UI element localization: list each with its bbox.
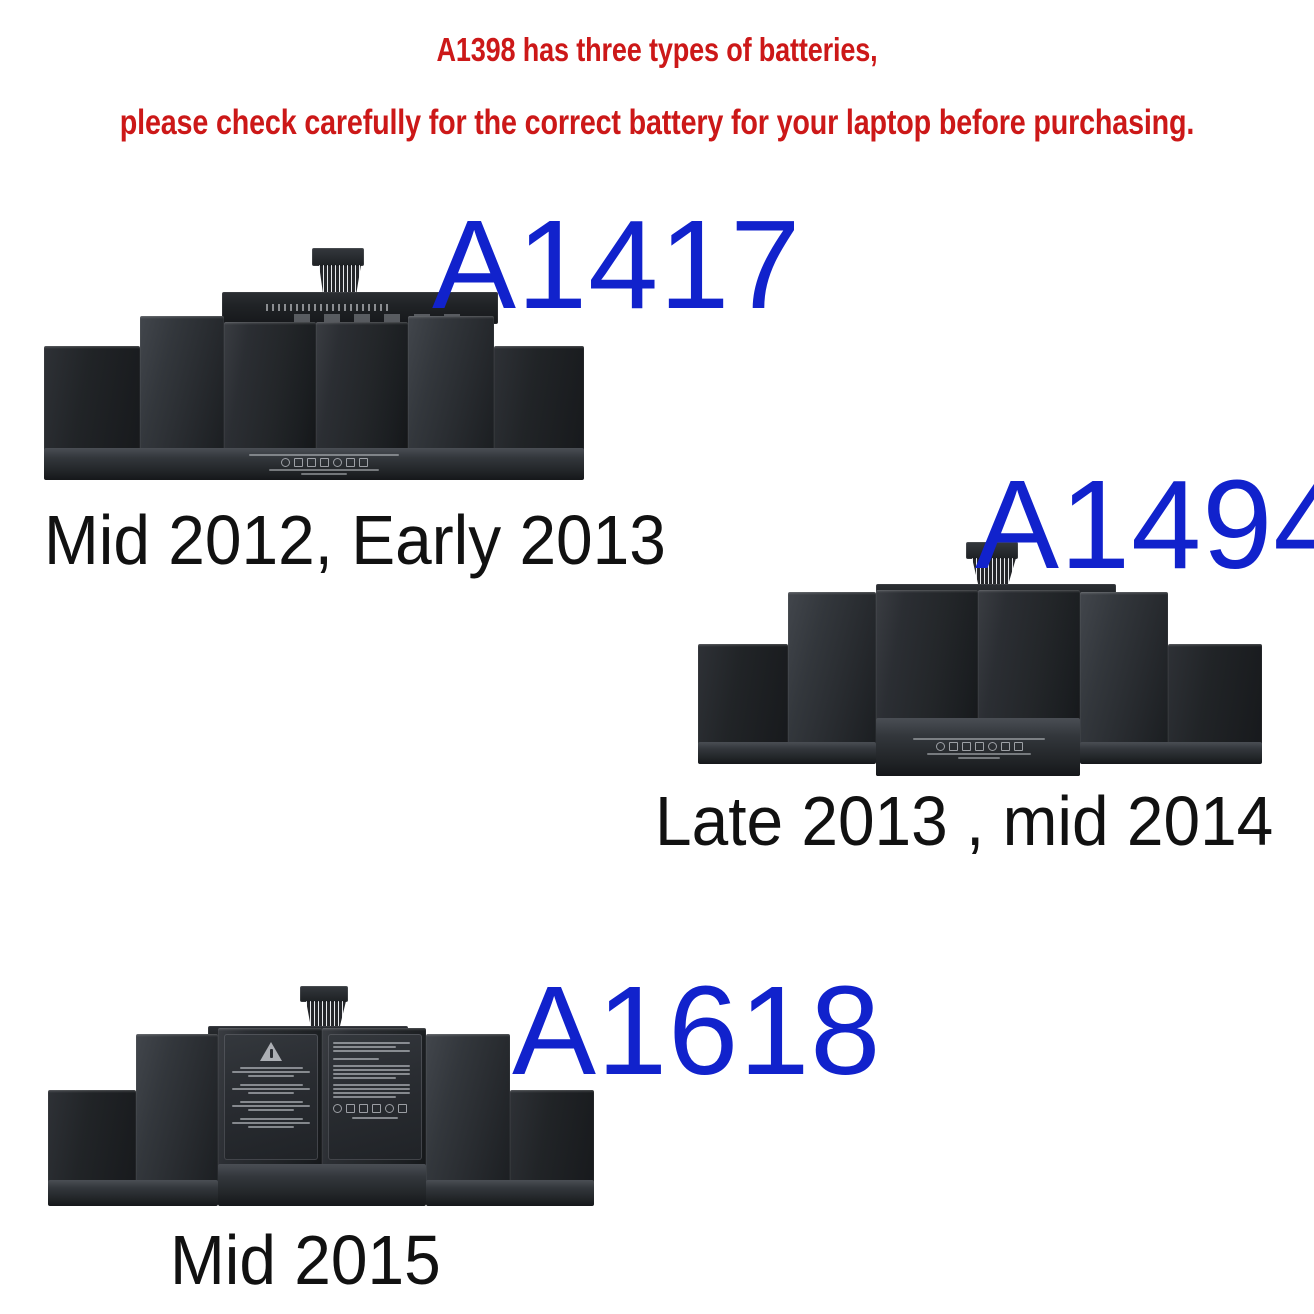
battery-cell-outer-right — [494, 346, 584, 462]
battery-warning-label — [224, 1034, 318, 1160]
battery-lip-left — [48, 1180, 218, 1206]
battery-spec-caution-label — [328, 1034, 422, 1160]
battery-cell-inner-right — [316, 322, 408, 464]
battery-cell-outer-left — [44, 346, 140, 462]
battery-lip-right — [1080, 742, 1262, 764]
battery-lip-left — [698, 742, 876, 764]
certification-icons — [281, 458, 368, 467]
battery-spec-label — [894, 724, 1064, 772]
battery-lip-right — [426, 1180, 594, 1206]
model-label-a1417: A1417 — [432, 202, 801, 328]
warning-banner: A1398 has three types of batteries, plea… — [0, 28, 1314, 146]
battery-cell-mid-left — [140, 316, 224, 462]
poster-canvas: A1398 has three types of batteries, plea… — [0, 0, 1314, 1314]
connector-plug-icon — [300, 986, 348, 1002]
battery-cell-mid-left — [136, 1034, 218, 1204]
certification-icons — [936, 742, 1023, 751]
warning-triangle-icon — [260, 1042, 282, 1061]
battery-cell-inner-left — [224, 322, 316, 464]
battery-cell-mid-right — [426, 1034, 510, 1204]
board-silkscreen-icon — [266, 304, 387, 311]
battery-cell-outer-left — [698, 644, 788, 756]
certification-icons — [333, 1104, 417, 1113]
battery-cell-mid-left — [788, 592, 876, 756]
battery-spec-label — [224, 450, 424, 478]
battery-cell-mid-right — [1080, 592, 1168, 756]
banner-line-1: A1398 has three types of batteries, — [118, 28, 1195, 72]
battery-cell-outer-right — [1168, 644, 1262, 756]
years-label-a1417: Mid 2012, Early 2013 — [44, 502, 666, 578]
years-label-a1494: Late 2013 , mid 2014 — [655, 783, 1273, 859]
battery-center-base — [218, 1164, 426, 1206]
connector-plug-icon — [312, 248, 364, 266]
model-label-a1618: A1618 — [512, 968, 881, 1094]
years-label-a1618: Mid 2015 — [170, 1222, 441, 1298]
battery-cell-mid-right — [408, 316, 494, 462]
banner-line-2: please check carefully for the correct b… — [118, 100, 1195, 146]
model-label-a1494: A1494 — [975, 462, 1314, 588]
